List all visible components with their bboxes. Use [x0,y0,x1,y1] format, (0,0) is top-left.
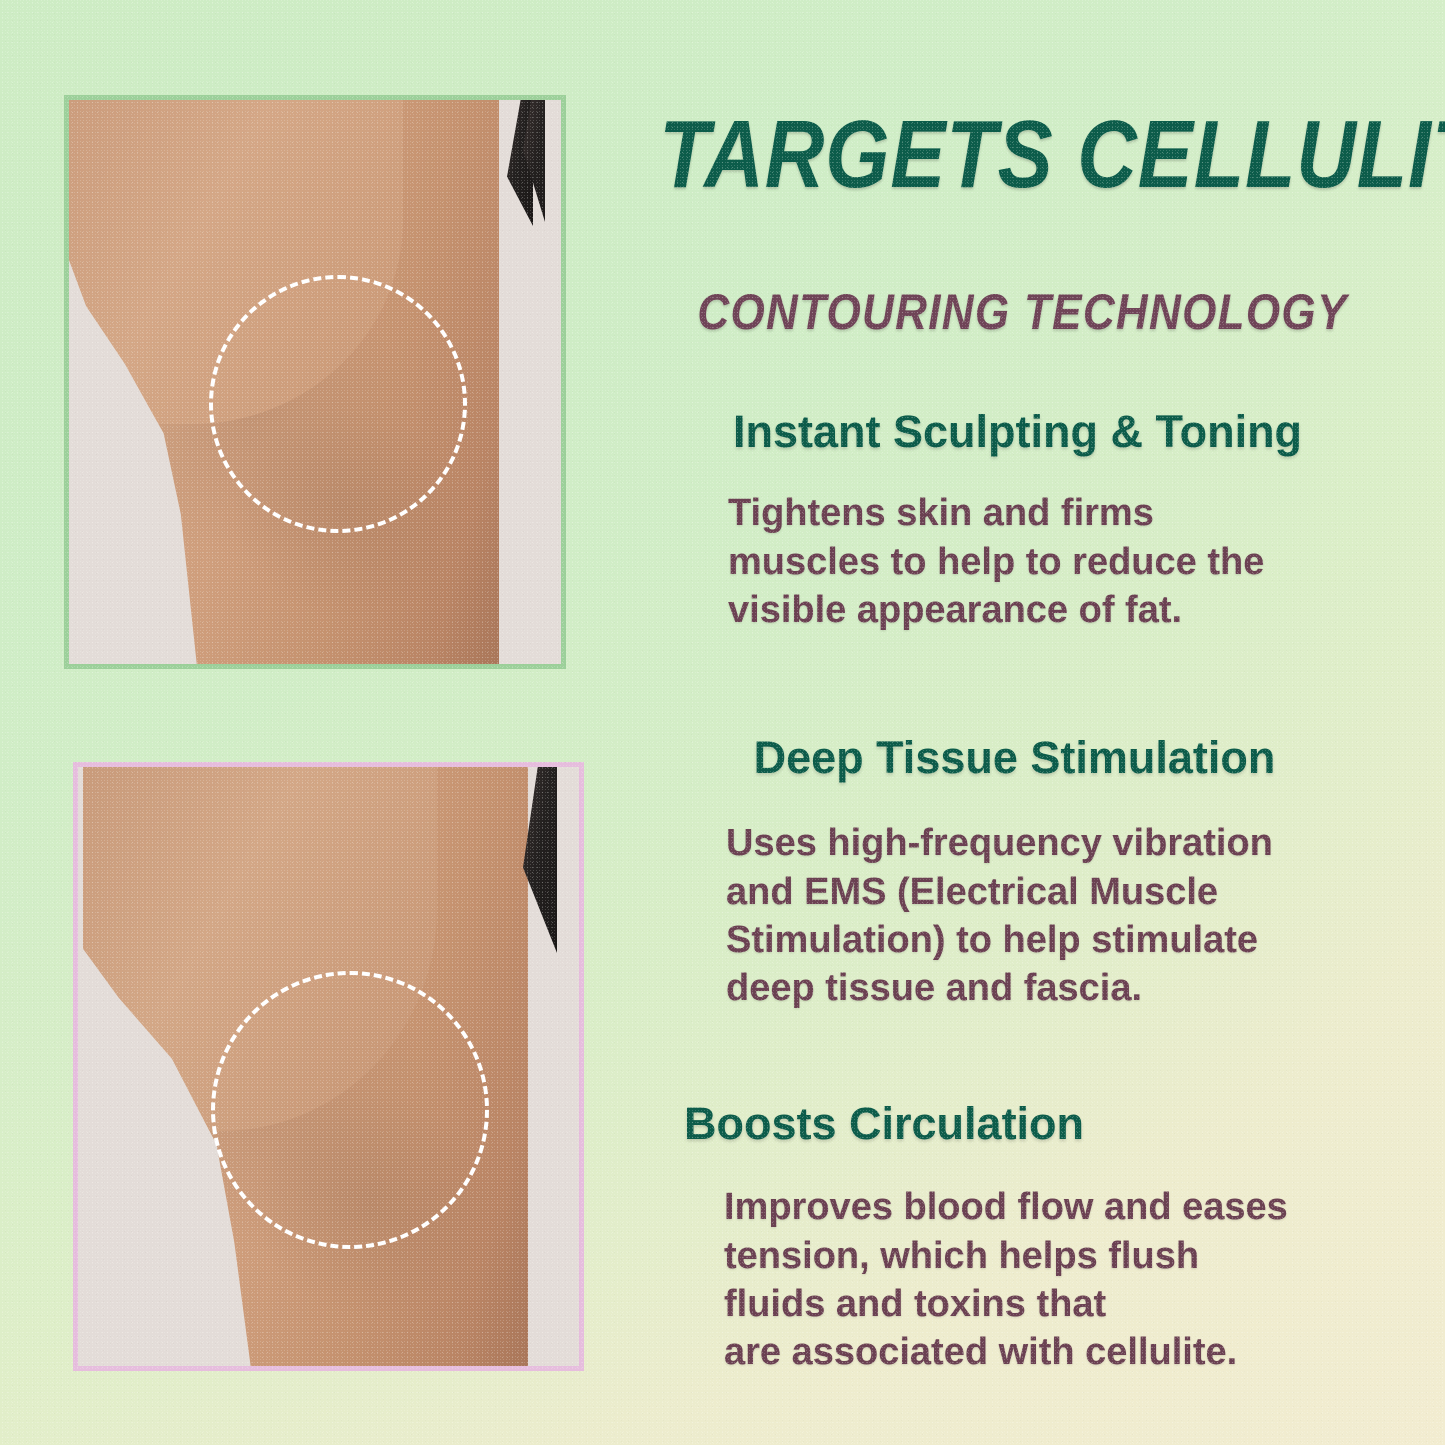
feature-body-line: Uses high-frequency vibration [726,819,1439,867]
photo-top-canvas [69,100,561,664]
feature-body-line: and EMS (Electrical Muscle [726,868,1439,916]
feature-body-line: fluids and toxins that [724,1280,1443,1328]
feature-body-line: deep tissue and fascia. [726,964,1439,1012]
feature-body-line: Improves blood flow and eases [724,1183,1443,1231]
feature-section-boosts-circulation: Boosts Circulation Improves blood flow a… [600,1100,1445,1376]
feature-section-instant-sculpting: Instant Sculpting & Toning Tightens skin… [600,408,1445,634]
page-subtitle: CONTOURING TECHNOLOGY [651,287,1395,337]
feature-body-line: muscles to help to reduce the [728,538,1411,586]
feature-body: Tightens skin and firms muscles to help … [600,489,1445,634]
feature-heading: Deep Tissue Stimulation [600,734,1445,781]
cellulite-highlight-circle-icon [209,275,467,533]
feature-body: Uses high-frequency vibration and EMS (E… [600,819,1445,1012]
feature-body-line: Stimulation) to help stimulate [726,916,1439,964]
copy-column: TARGETS CELLULITE CONTOURING TECHNOLOGY … [600,0,1445,1445]
photo-bottom-canvas [78,767,579,1366]
feature-body-line: tension, which helps flush [724,1232,1443,1280]
cellulite-highlight-circle-icon [211,971,489,1249]
feature-heading: Boosts Circulation [600,1100,1445,1147]
feature-body: Improves blood flow and eases tension, w… [600,1183,1445,1376]
cellulite-thigh-photo-bottom [73,762,584,1371]
garment-shadow-bottom [523,767,557,953]
cellulite-product-infographic: TARGETS CELLULITE CONTOURING TECHNOLOGY … [0,0,1445,1445]
page-title: TARGETS CELLULITE [659,107,1386,203]
feature-body-line: are associated with cellulite. [724,1328,1443,1376]
feature-body-line: visible appearance of fat. [728,586,1411,634]
feature-heading: Instant Sculpting & Toning [600,408,1445,455]
feature-section-deep-tissue: Deep Tissue Stimulation Uses high-freque… [600,734,1445,1012]
cellulite-thigh-photo-top [64,95,566,669]
feature-body-line: Tightens skin and firms [728,489,1411,537]
